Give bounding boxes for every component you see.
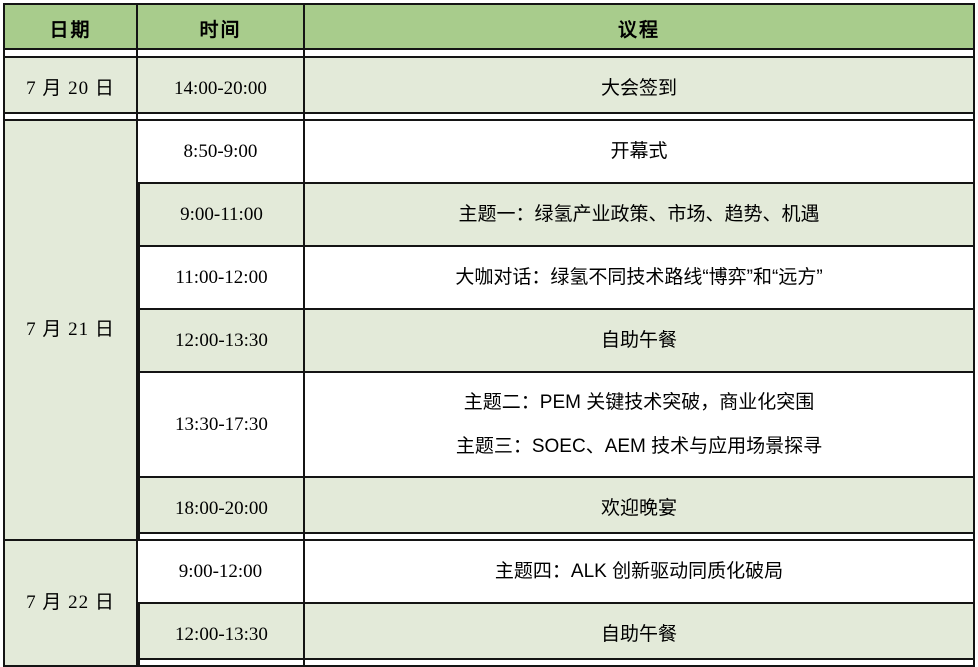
cell-time: 12:00-13:30 <box>138 604 305 667</box>
agenda-line: 主题三：SOEC、AEM 技术与应用场景探寻 <box>309 434 969 460</box>
column-header-agenda: 议程 <box>305 3 975 58</box>
cell-date: 7 月 22 日 <box>3 541 138 667</box>
table-body: 7 月 20 日14:00-20:00大会签到7 月 21 日8:50-9:00… <box>3 58 975 667</box>
column-header-time: 时间 <box>138 3 305 58</box>
cell-time: 9:00-11:00 <box>138 184 305 247</box>
table-row: 9:00-11:00主题一：绿氢产业政策、市场、趋势、机遇 <box>3 184 975 247</box>
cell-agenda: 主题四：ALK 创新驱动同质化破局 <box>305 541 975 604</box>
cell-time: 13:30-17:30 <box>138 373 305 478</box>
table-row: 7 月 20 日14:00-20:00大会签到 <box>3 58 975 121</box>
cell-time: 14:00-20:00 <box>138 58 305 121</box>
table-header-row: 日期 时间 议程 <box>3 3 975 58</box>
table-row: 18:00-20:00欢迎晚宴 <box>3 478 975 541</box>
table-row: 7 月 21 日8:50-9:00开幕式 <box>3 121 975 184</box>
cell-time: 11:00-12:00 <box>138 247 305 310</box>
cell-agenda: 大咖对话：绿氢不同技术路线“博弈”和“远方” <box>305 247 975 310</box>
cell-agenda: 主题二：PEM 关键技术突破，商业化突围主题三：SOEC、AEM 技术与应用场景… <box>305 373 975 478</box>
cell-agenda: 大会签到 <box>305 58 975 121</box>
cell-agenda: 欢迎晚宴 <box>305 478 975 541</box>
table-row: 7 月 22 日9:00-12:00主题四：ALK 创新驱动同质化破局 <box>3 541 975 604</box>
cell-agenda: 主题一：绿氢产业政策、市场、趋势、机遇 <box>305 184 975 247</box>
cell-agenda: 自助午餐 <box>305 310 975 373</box>
conference-agenda-table: 日期 时间 议程 7 月 20 日14:00-20:00大会签到7 月 21 日… <box>3 3 975 667</box>
cell-date: 7 月 20 日 <box>3 58 138 121</box>
table-row: 11:00-12:00大咖对话：绿氢不同技术路线“博弈”和“远方” <box>3 247 975 310</box>
cell-time: 18:00-20:00 <box>138 478 305 541</box>
cell-agenda: 开幕式 <box>305 121 975 184</box>
cell-time: 12:00-13:30 <box>138 310 305 373</box>
cell-time: 8:50-9:00 <box>138 121 305 184</box>
table-row: 13:30-17:30主题二：PEM 关键技术突破，商业化突围主题三：SOEC、… <box>3 373 975 478</box>
table-row: 12:00-13:30自助午餐 <box>3 604 975 667</box>
cell-date: 7 月 21 日 <box>3 121 138 541</box>
column-header-date: 日期 <box>3 3 138 58</box>
cell-agenda: 自助午餐 <box>305 604 975 667</box>
agenda-line: 主题二：PEM 关键技术突破，商业化突围 <box>309 390 969 416</box>
cell-time: 9:00-12:00 <box>138 541 305 604</box>
table-row: 12:00-13:30自助午餐 <box>3 310 975 373</box>
